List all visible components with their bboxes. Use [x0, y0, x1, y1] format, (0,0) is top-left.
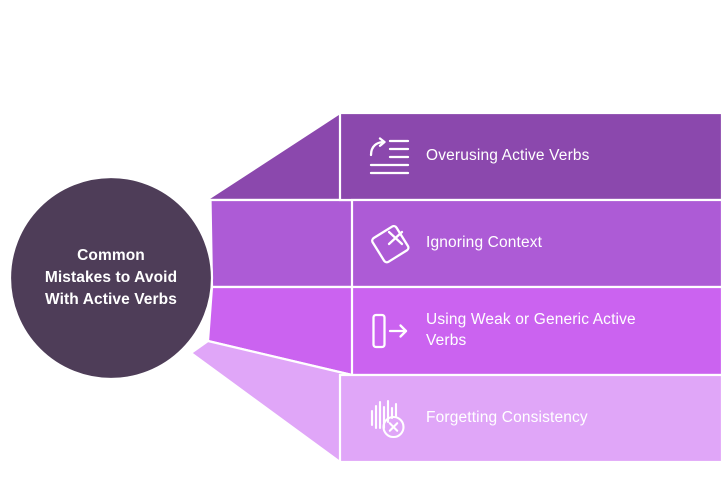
tilted-card-x-icon [368, 222, 412, 266]
funnel-item-2[interactable]: Ignoring Context [368, 200, 722, 287]
waveform-x-circle-icon [368, 397, 412, 441]
funnel-item-4-label: Forgetting Consistency [426, 408, 588, 429]
funnel-item-3[interactable]: Using Weak or Generic Active Verbs [368, 287, 722, 375]
bar-arrow-right-icon [368, 309, 412, 353]
funnel-item-1[interactable]: Overusing Active Verbs [368, 113, 722, 200]
funnel-item-3-label: Using Weak or Generic Active Verbs [426, 310, 676, 352]
funnel-item-4[interactable]: Forgetting Consistency [368, 375, 722, 462]
diagram-stage: Common Mistakes to Avoid With Active Ver… [0, 0, 728, 485]
infographic-funnel-diagram: Common Mistakes to Avoid With Active Ver… [0, 0, 728, 485]
hub-circle[interactable] [10, 177, 212, 379]
list-lines-arrow-icon [368, 135, 412, 179]
funnel-item-1-label: Overusing Active Verbs [426, 146, 590, 167]
funnel-item-2-label: Ignoring Context [426, 233, 542, 254]
